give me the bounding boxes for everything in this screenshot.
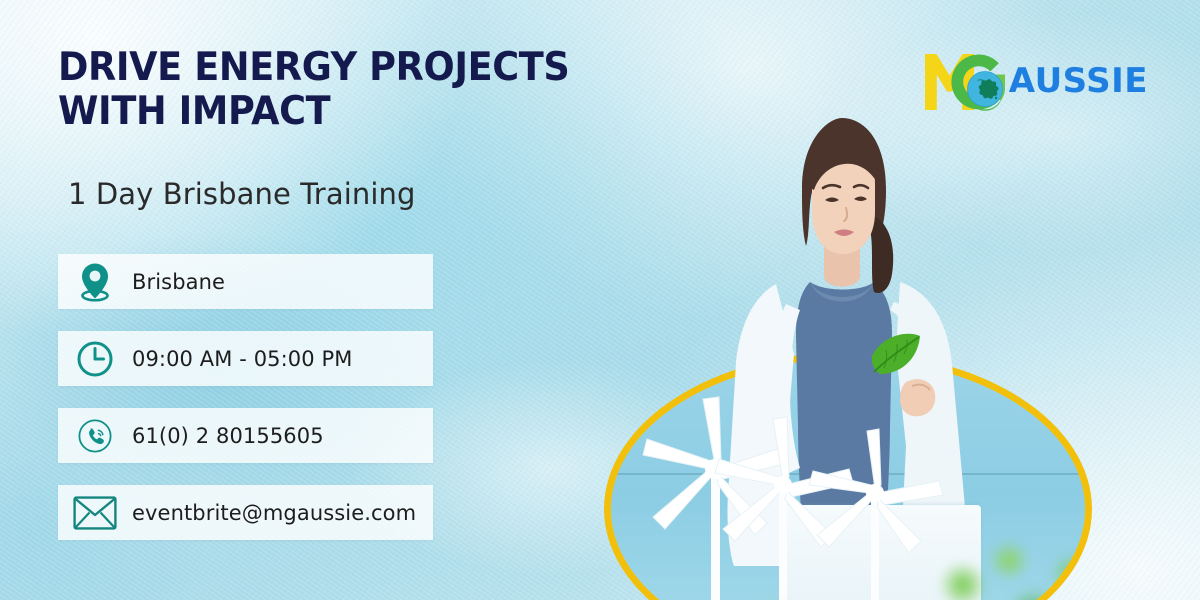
detail-email-label: eventbrite@mgaussie.com [132,501,416,525]
location-pin-icon [58,254,132,309]
detail-location-label: Brisbane [132,270,225,294]
detail-row-email: eventbrite@mgaussie.com [58,485,433,540]
page-title: DRIVE ENERGY PROJECTS WITH IMPACT [58,46,678,135]
event-banner: DRIVE ENERGY PROJECTS WITH IMPACT 1 Day … [0,0,1200,600]
foliage-decoration [707,559,857,600]
event-details-list: Brisbane 09:00 AM - 05:00 PM 61(0) 2 [58,254,433,540]
logo-wordmark: AUSSIE [1009,64,1148,98]
envelope-icon [58,485,132,540]
detail-row-time: 09:00 AM - 05:00 PM [58,331,433,386]
detail-row-phone: 61(0) 2 80155605 [58,408,433,463]
clock-icon [58,331,132,386]
detail-row-location: Brisbane [58,254,433,309]
foliage-decoration [883,494,1085,600]
detail-phone-label: 61(0) 2 80155605 [132,424,324,448]
detail-time-label: 09:00 AM - 05:00 PM [132,347,352,371]
page-subtitle: 1 Day Brisbane Training [68,177,415,211]
phone-icon [58,408,132,463]
